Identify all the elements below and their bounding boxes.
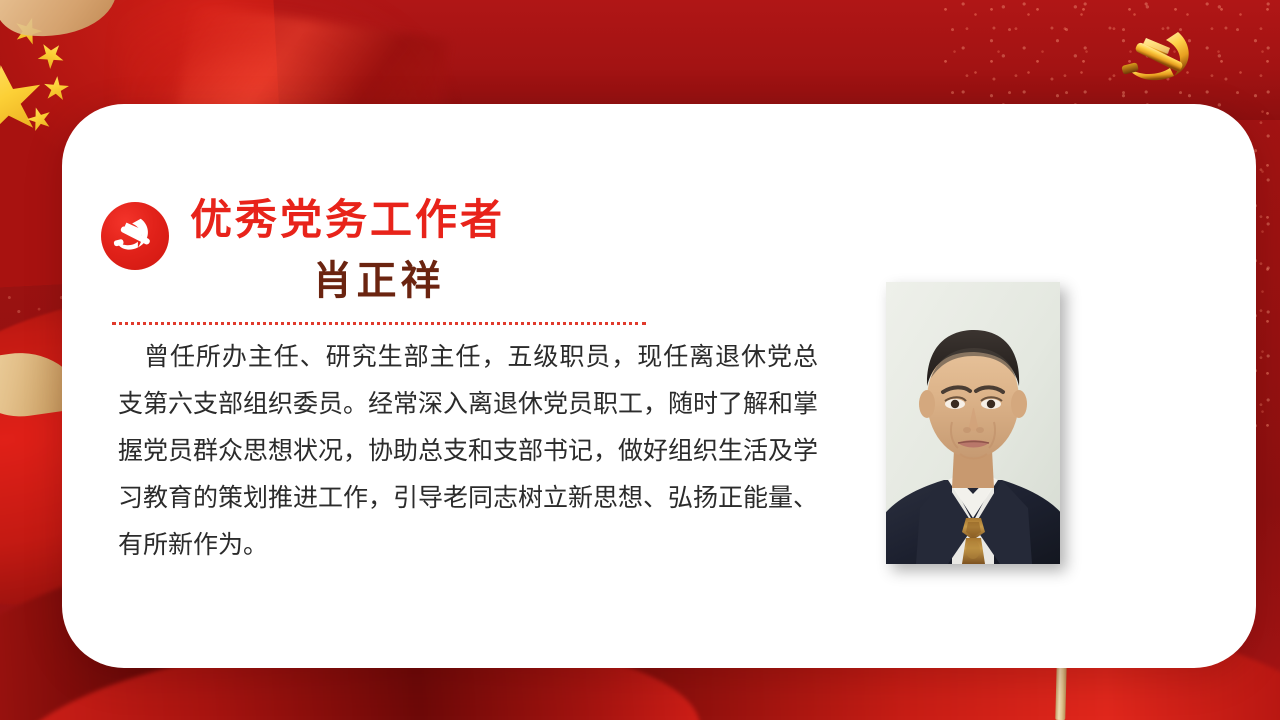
slide-root: 优秀党务工作者 肖正祥 曾任所办主任、研究生部主任，五级职员，现任离退休党总支第…: [0, 0, 1280, 720]
flag-star-large: [0, 60, 47, 142]
flag-star-small-4: [24, 104, 54, 134]
page-title: 优秀党务工作者: [190, 200, 505, 242]
flag-star-small-3: [43, 75, 70, 102]
gold-hammer-sickle-emblem-icon: [1112, 24, 1212, 94]
person-name: 肖正祥: [112, 259, 645, 303]
biography-text: 曾任所办主任、研究生部主任，五级职员，现任离退休党总支第六支部组织委员。经常深入…: [118, 334, 818, 569]
portrait-photo: [886, 282, 1060, 564]
dotted-divider: [112, 322, 646, 325]
flag-star-small-2: [33, 37, 70, 74]
gold-flag-pole: [1055, 662, 1067, 720]
